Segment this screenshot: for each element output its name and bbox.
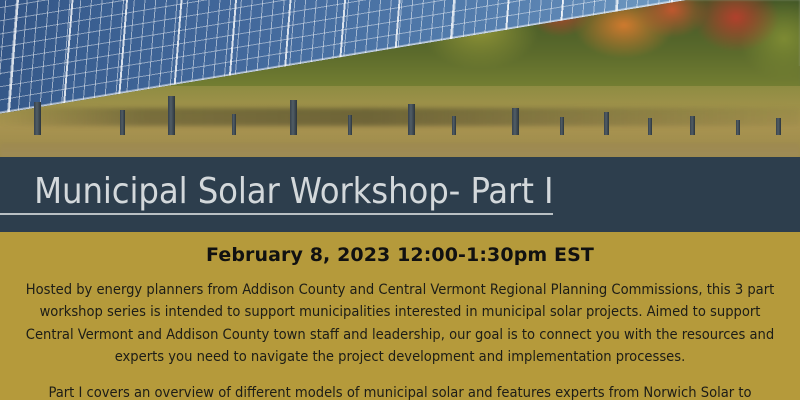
support-post [604,112,609,135]
support-post [290,100,297,135]
content-band: February 8, 2023 12:00-1:30pm EST Hosted… [0,232,800,400]
solar-workshop-flyer: Municipal Solar Workshop- Part I Februar… [0,0,800,400]
support-post [232,114,236,135]
description-paragraph-2: Part I covers an overview of different m… [10,382,790,400]
support-post [560,117,564,135]
array-support-posts [0,75,800,135]
banner-photo-solar-array [0,0,800,157]
support-post [120,110,125,135]
dirt-path [0,143,800,157]
page-title: Municipal Solar Workshop- Part I [0,171,553,215]
support-post [452,116,456,135]
support-post [648,118,652,135]
support-post [348,115,352,135]
support-post [408,104,415,135]
title-band: Municipal Solar Workshop- Part I [0,157,800,232]
support-post [512,108,519,135]
description-paragraph-1: Hosted by energy planners from Addison C… [10,279,790,368]
support-post [168,96,175,135]
support-post [776,118,781,135]
support-post [690,116,695,135]
event-datetime: February 8, 2023 12:00-1:30pm EST [10,232,790,266]
support-post [34,102,41,135]
support-post [736,120,740,136]
